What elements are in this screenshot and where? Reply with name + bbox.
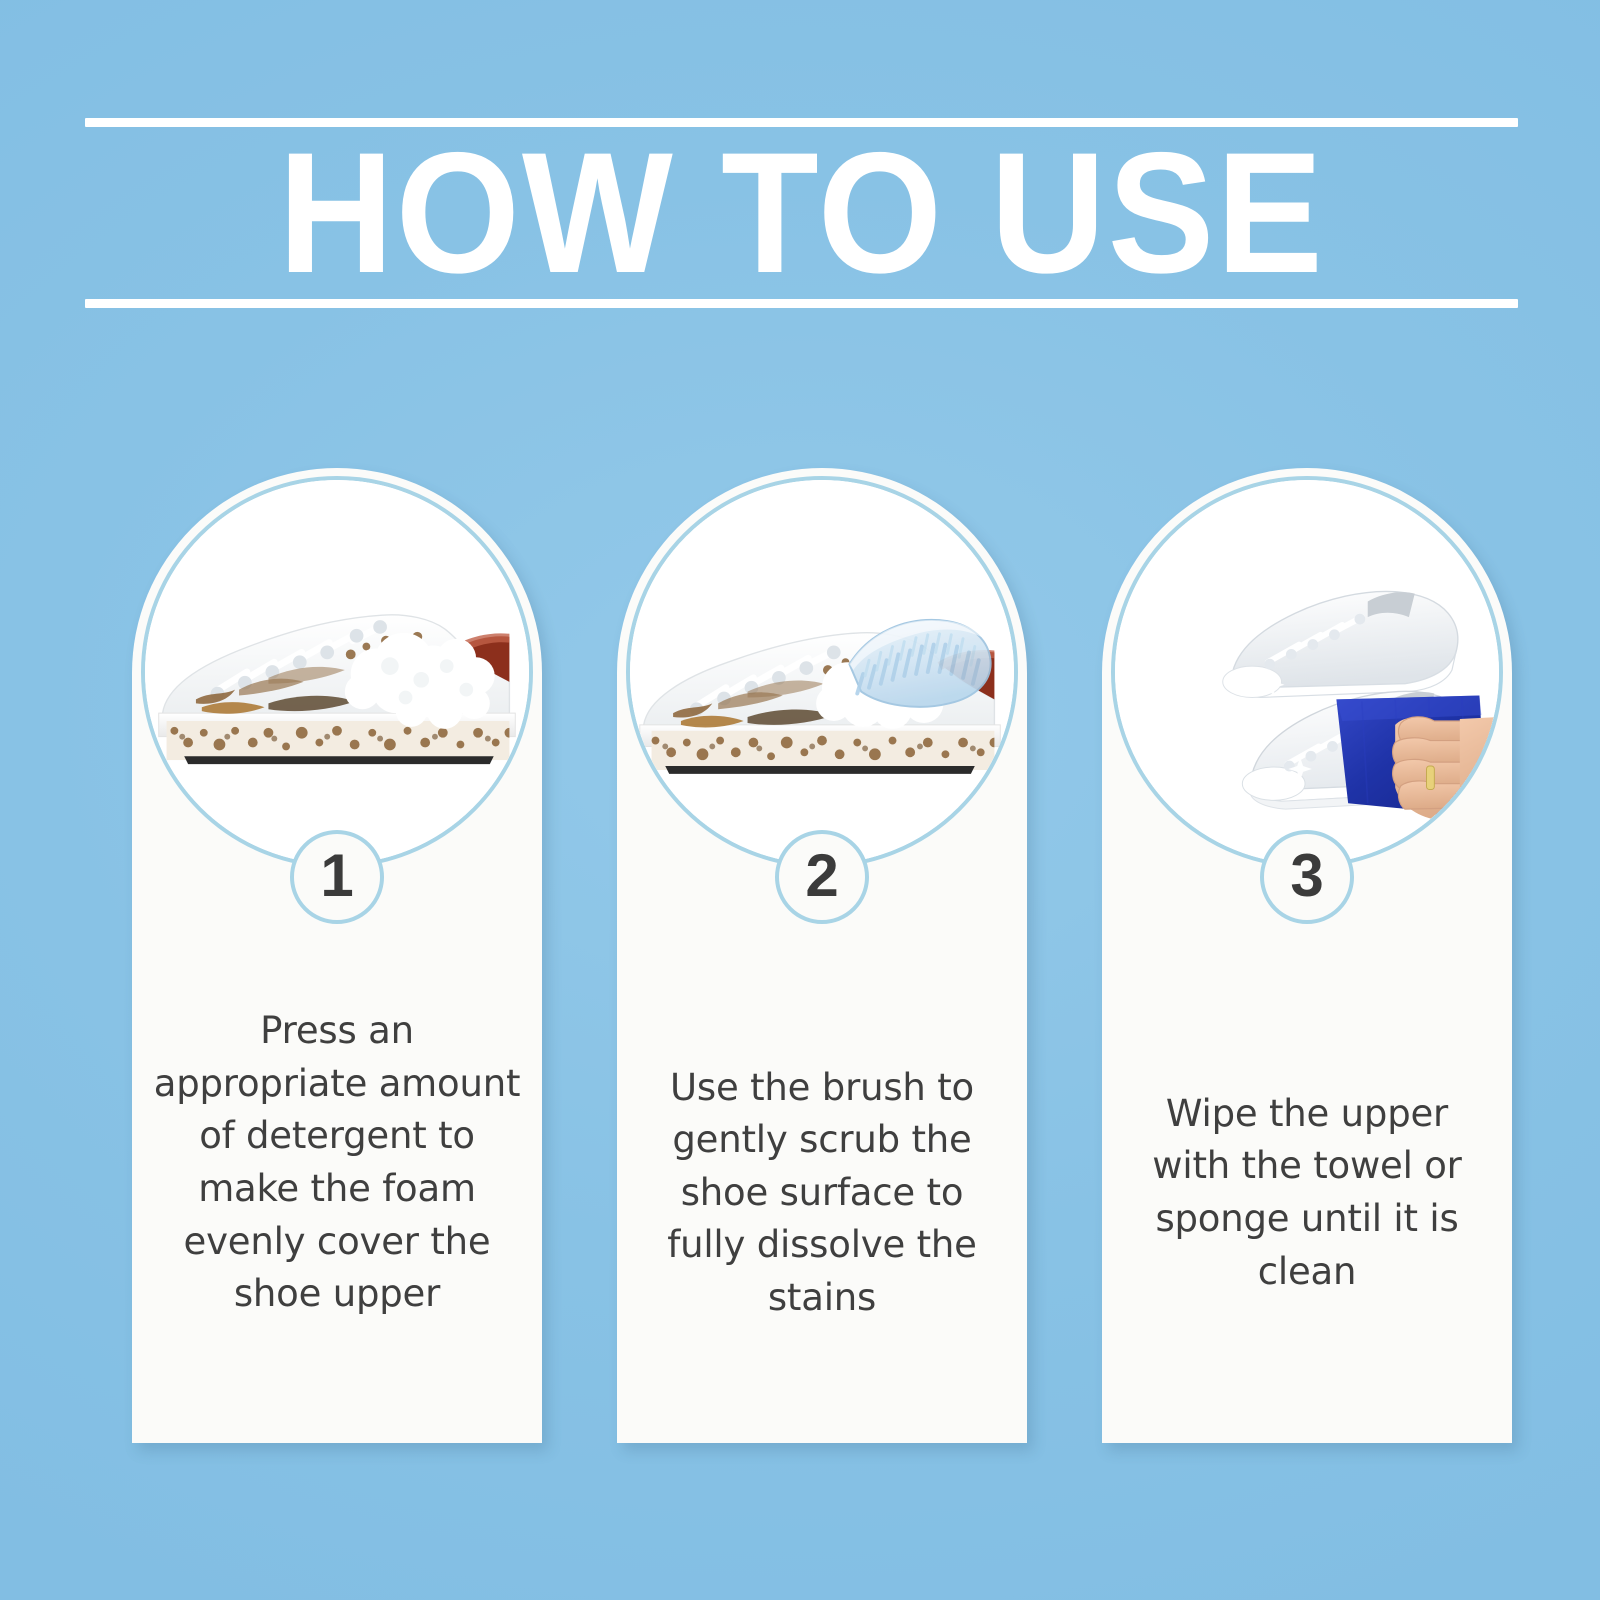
steps-row: 1 Press an appropriate amount of deterge… (132, 468, 1512, 1443)
step-2-badge: 2 (775, 830, 869, 924)
step-card-3: 3 Wipe the upper with the towel or spong… (1102, 468, 1512, 1443)
title-rule-bottom (85, 299, 1518, 308)
page-title: HOW TO USE (135, 132, 1468, 294)
step-2-photo-frame (626, 476, 1018, 868)
step-3-badge: 3 (1260, 830, 1354, 924)
step-3-photo (1115, 480, 1499, 864)
step-1-badge: 1 (290, 830, 384, 924)
step-2-photo (630, 480, 1014, 864)
step-3-number: 3 (1290, 846, 1323, 906)
step-1-photo-frame (141, 476, 533, 868)
step-1-photo (145, 480, 529, 864)
step-1-number: 1 (320, 846, 353, 906)
step-2-number: 2 (805, 846, 838, 906)
step-card-2: 2 Use the brush to gently scrub the shoe… (617, 468, 1027, 1443)
how-to-use-infographic: HOW TO USE (0, 0, 1600, 1600)
header: HOW TO USE (85, 118, 1518, 308)
step-2-caption: Use the brush to gently scrub the shoe s… (637, 1028, 1007, 1358)
step-card-1: 1 Press an appropriate amount of deterge… (132, 468, 542, 1443)
step-3-caption: Wipe the upper with the towel or sponge … (1122, 1028, 1492, 1358)
step-3-photo-frame (1111, 476, 1503, 868)
step-1-caption: Press an appropriate amount of detergent… (152, 998, 522, 1328)
